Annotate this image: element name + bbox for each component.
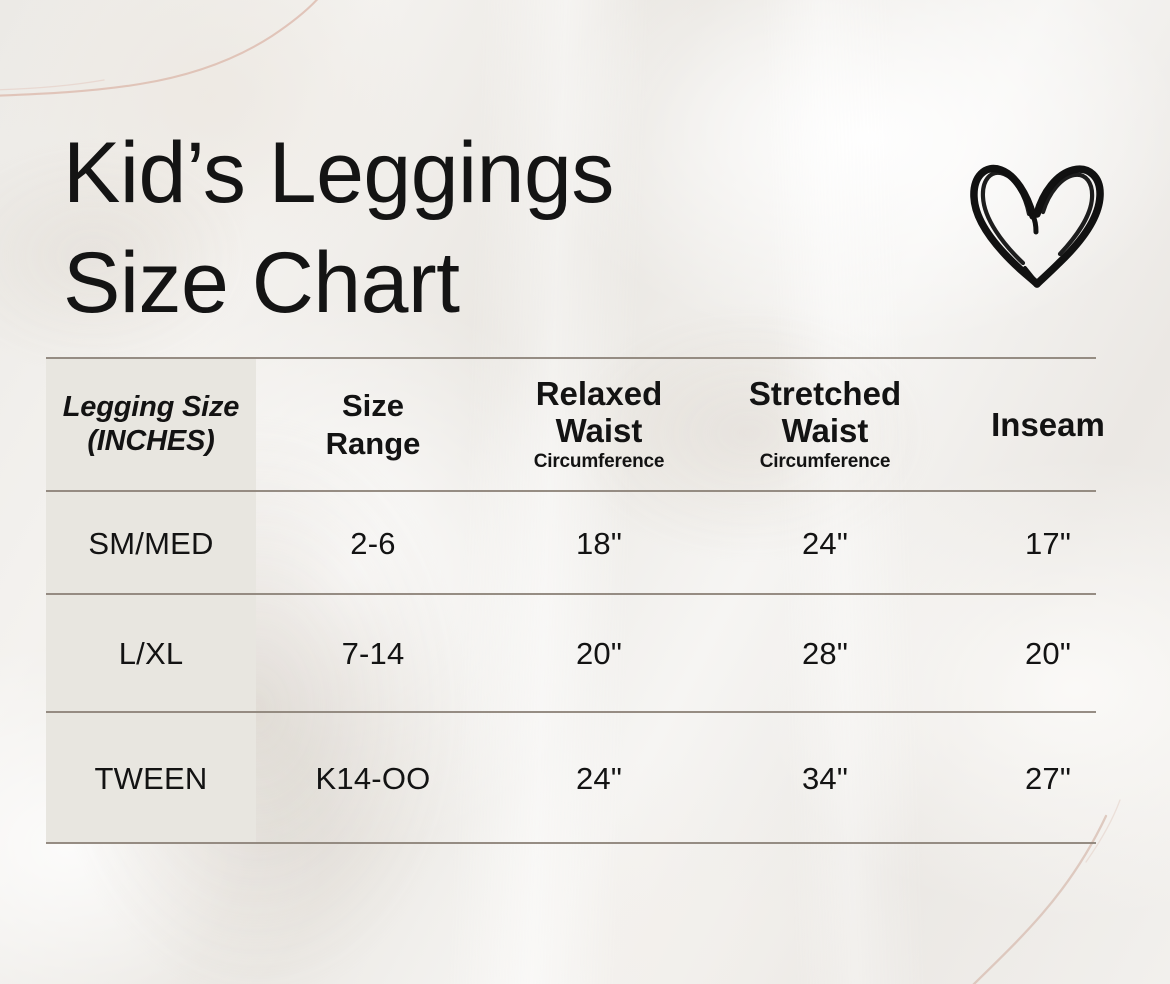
table-row-2-relaxed: 20" bbox=[486, 597, 712, 711]
table-row-2-stretched: 28" bbox=[712, 597, 938, 711]
legging-size-line1: Legging Size bbox=[63, 391, 239, 425]
table-row-1-relaxed: 18" bbox=[486, 495, 712, 593]
stretched-waist-note: Circumference bbox=[760, 451, 890, 472]
legging-size-line2: (INCHES) bbox=[87, 425, 214, 459]
stretched-waist-line1: Stretched bbox=[749, 376, 901, 413]
table-row-2-range: 7-14 bbox=[260, 597, 486, 711]
column-header-relaxed-waist: Relaxed Waist Circumference bbox=[486, 359, 712, 490]
column-header-inseam: Inseam bbox=[938, 359, 1158, 490]
table-row-3-relaxed: 24" bbox=[486, 715, 712, 842]
relaxed-waist-line1: Relaxed bbox=[536, 376, 663, 413]
table-row-1-inseam: 17" bbox=[938, 495, 1158, 593]
page-title: Kid’s Leggings Size Chart bbox=[63, 118, 823, 338]
stretched-waist-line2: Waist bbox=[782, 413, 869, 450]
relaxed-waist-line2: Waist bbox=[556, 413, 643, 450]
column-header-stretched-waist: Stretched Waist Circumference bbox=[712, 359, 938, 490]
table-row-2-inseam: 20" bbox=[938, 597, 1158, 711]
table-row-3-size: TWEEN bbox=[46, 715, 256, 842]
size-chart-table: Legging Size (INCHES) Size Range Relaxed… bbox=[46, 357, 1096, 844]
table-row-3-range: K14-OO bbox=[260, 715, 486, 842]
table-row-3-stretched: 34" bbox=[712, 715, 938, 842]
table-row-1-stretched: 24" bbox=[712, 495, 938, 593]
table-row-1-range: 2-6 bbox=[260, 495, 486, 593]
size-range-line1: Size bbox=[342, 387, 404, 424]
column-header-legging-size: Legging Size (INCHES) bbox=[46, 359, 256, 490]
table-row-2-size: L/XL bbox=[46, 597, 256, 711]
heart-doodle-icon bbox=[963, 142, 1113, 294]
size-chart-page: Kid’s Leggings Size Chart Legging Size (… bbox=[0, 0, 1170, 984]
relaxed-waist-note: Circumference bbox=[534, 451, 664, 472]
column-header-size-range: Size Range bbox=[260, 359, 486, 490]
table-row-3-inseam: 27" bbox=[938, 715, 1158, 842]
table-row-1-size: SM/MED bbox=[46, 495, 256, 593]
size-range-line2: Range bbox=[326, 425, 421, 462]
